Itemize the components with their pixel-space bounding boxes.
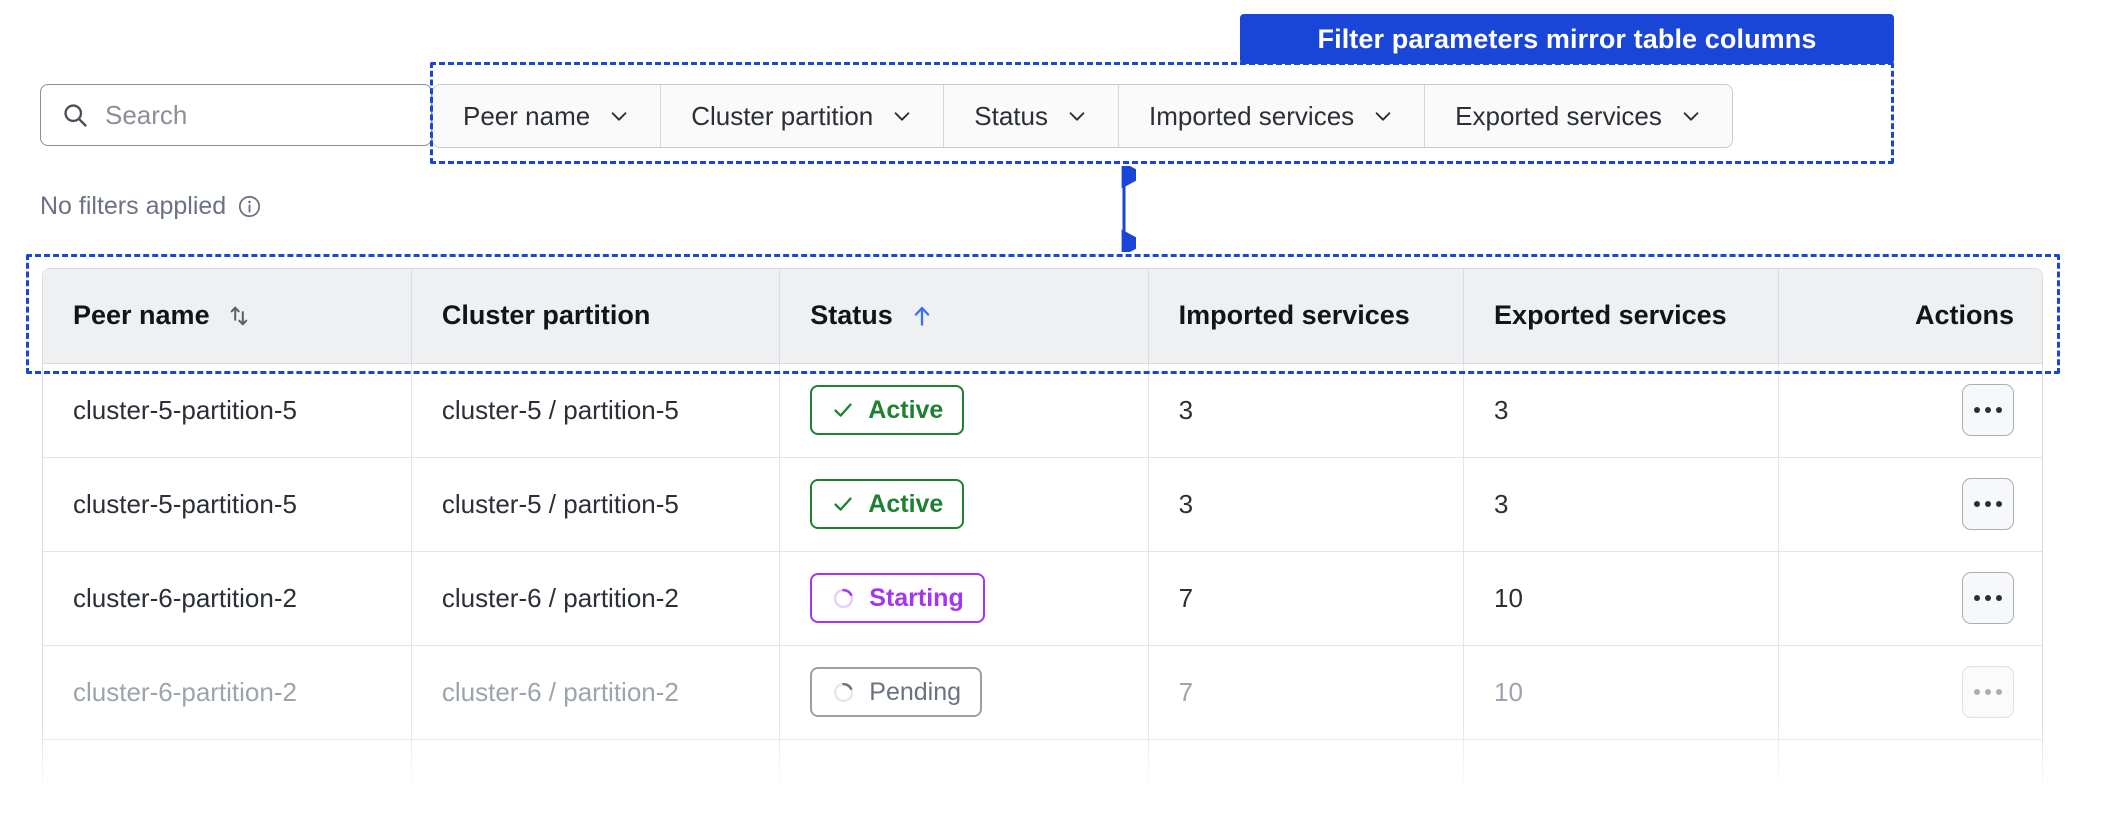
cell-imported-services: 7: [1148, 645, 1463, 739]
cell-imported-services: 3: [1148, 457, 1463, 551]
row-actions-button[interactable]: [1962, 384, 2014, 436]
cell-peer-name: cluster-6-partition-2: [43, 551, 411, 645]
cell-imported-services: 7: [1148, 551, 1463, 645]
table-header: Peer name Cluster partition: [43, 269, 2043, 363]
peering-list-screen: Filter parameters mirror table columns S…: [0, 0, 2118, 816]
column-header-peer-name[interactable]: Peer name: [43, 269, 411, 363]
cell-exported-services: 10: [1464, 551, 1779, 645]
cell-exported-services: 10: [1464, 645, 1779, 739]
cell-cluster-partition: cluster-6 / partition-2: [411, 551, 779, 645]
table-row[interactable]: cluster-6-partition-2 cluster-6 / partit…: [43, 551, 2043, 645]
cell-cluster-partition: cluster-6 / partition-2: [411, 645, 779, 739]
filter-pill-cluster-partition[interactable]: Cluster partition: [661, 85, 944, 147]
annotation-connector-arrow: [1112, 166, 1136, 252]
status-badge-label: Active: [868, 492, 943, 517]
column-header-label: Cluster partition: [442, 300, 651, 331]
annotation-callout-banner: Filter parameters mirror table columns: [1240, 14, 1894, 64]
cell-status: Active: [780, 457, 1148, 551]
status-badge: Active: [810, 479, 964, 529]
row-actions-button[interactable]: [1962, 666, 2014, 718]
column-header-status[interactable]: Status: [780, 269, 1148, 363]
filter-pill-label: Imported services: [1149, 101, 1354, 132]
filter-pill-group: Peer name Cluster partition Status Impor…: [432, 84, 1733, 148]
table-row[interactable]: cluster-5-partition-5 cluster-5 / partit…: [43, 457, 2043, 551]
cell-imported-services: [1148, 739, 1463, 799]
status-badge-label: Pending: [869, 680, 961, 705]
filter-status: No filters applied: [40, 192, 262, 221]
filter-pill-label: Peer name: [463, 101, 590, 132]
annotation-callout-text: Filter parameters mirror table columns: [1318, 24, 1817, 55]
chevron-down-icon: [1066, 105, 1088, 127]
cell-peer-name: cluster-5-partition-5: [43, 457, 411, 551]
cell-peer-name: cluster-6-partition-2: [43, 645, 411, 739]
filter-pill-peer-name[interactable]: Peer name: [433, 85, 661, 147]
filter-pill-imported-services[interactable]: Imported services: [1119, 85, 1425, 147]
column-header-exported-services[interactable]: Exported services: [1464, 269, 1779, 363]
info-icon[interactable]: [237, 194, 262, 219]
arrow-up-icon[interactable]: [909, 303, 935, 329]
peers-table-container: Peer name Cluster partition: [42, 268, 2043, 800]
status-badge-label: Active: [868, 398, 943, 423]
cell-actions: [1779, 363, 2043, 457]
cell-exported-services: 3: [1464, 363, 1779, 457]
row-actions-button[interactable]: [1962, 478, 2014, 530]
cell-actions: [1779, 457, 2043, 551]
search-icon: [61, 101, 89, 129]
status-badge: Active: [810, 385, 964, 435]
column-header-imported-services[interactable]: Imported services: [1148, 269, 1463, 363]
table-row[interactable]: cluster-5-partition-5 cluster-5 / partit…: [43, 363, 2043, 457]
cell-peer-name: [43, 739, 411, 799]
filter-pill-label: Exported services: [1455, 101, 1662, 132]
table-row[interactable]: cluster-6-partition-2 cluster-6 / partit…: [43, 645, 2043, 739]
filter-status-label: No filters applied: [40, 192, 226, 221]
kebab-menu-icon: [1974, 407, 2002, 413]
row-actions-button[interactable]: [1962, 572, 2014, 624]
filter-pill-status[interactable]: Status: [944, 85, 1119, 147]
cell-status: Pending: [780, 645, 1148, 739]
peers-table: Peer name Cluster partition: [43, 269, 2043, 800]
cell-imported-services: 3: [1148, 363, 1463, 457]
cell-exported-services: 3: [1464, 457, 1779, 551]
filter-toolbar: Search Peer name Cluster partition Statu…: [40, 84, 1733, 148]
kebab-menu-icon: [1974, 595, 2002, 601]
column-header-label: Imported services: [1179, 300, 1410, 331]
cell-cluster-partition: cluster-5 / partition-5: [411, 457, 779, 551]
spinner-icon: [831, 680, 856, 705]
column-header-label: Peer name: [73, 300, 210, 331]
search-input[interactable]: Search: [40, 84, 432, 146]
chevron-down-icon: [608, 105, 630, 127]
table-header-row: Peer name Cluster partition: [43, 269, 2043, 363]
cell-status: [780, 739, 1148, 799]
search-placeholder-text: Search: [105, 100, 187, 131]
cell-cluster-partition: cluster-5 / partition-5: [411, 363, 779, 457]
cell-status: Starting: [780, 551, 1148, 645]
cell-status: Active: [780, 363, 1148, 457]
sort-updown-icon[interactable]: [226, 303, 252, 329]
kebab-menu-icon: [1974, 501, 2002, 507]
column-header-actions: Actions: [1779, 269, 2043, 363]
column-header-cluster-partition[interactable]: Cluster partition: [411, 269, 779, 363]
chevron-down-icon: [1372, 105, 1394, 127]
cell-actions: [1779, 739, 2043, 799]
cell-actions: [1779, 551, 2043, 645]
column-header-label: Actions: [1915, 300, 2014, 331]
filter-pill-label: Status: [974, 101, 1048, 132]
table-body: cluster-5-partition-5 cluster-5 / partit…: [43, 363, 2043, 799]
column-header-label: Status: [810, 300, 893, 331]
check-icon: [831, 398, 855, 422]
spinner-icon: [831, 586, 856, 611]
filter-pill-label: Cluster partition: [691, 101, 873, 132]
chevron-down-icon: [891, 105, 913, 127]
kebab-menu-icon: [1974, 689, 2002, 695]
check-icon: [831, 492, 855, 516]
cell-peer-name: cluster-5-partition-5: [43, 363, 411, 457]
table-row-partial: [43, 739, 2043, 799]
cell-cluster-partition: [411, 739, 779, 799]
status-badge: Starting: [810, 573, 984, 623]
chevron-down-icon: [1680, 105, 1702, 127]
column-header-label: Exported services: [1494, 300, 1727, 331]
status-badge-label: Starting: [869, 586, 963, 611]
cell-exported-services: [1464, 739, 1779, 799]
status-badge: Pending: [810, 667, 982, 717]
cell-actions: [1779, 645, 2043, 739]
filter-pill-exported-services[interactable]: Exported services: [1425, 85, 1732, 147]
